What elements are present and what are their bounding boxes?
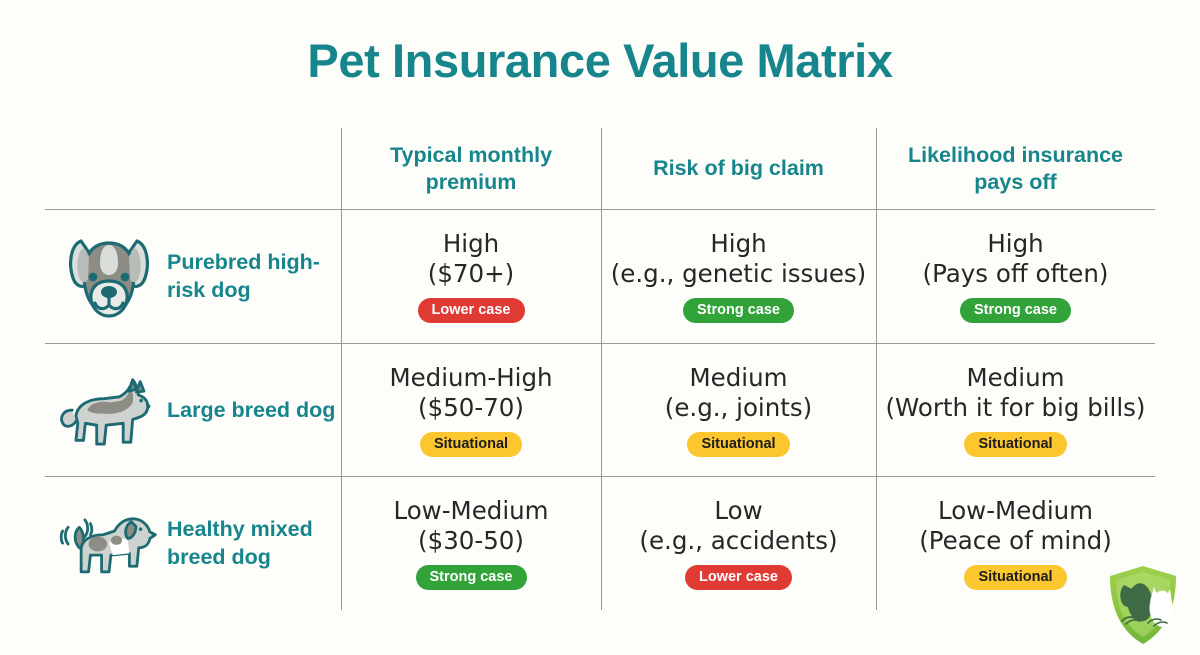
row-label-cell-purebred: Purebred high-risk dog: [45, 210, 341, 343]
matrix-grid: Typical monthly premium Risk of big clai…: [45, 128, 1155, 610]
cell-value-main: High: [710, 230, 766, 259]
cell-large-breed-risk: Medium (e.g., joints) Situational: [601, 344, 876, 477]
shepherd-dog-icon: [57, 361, 161, 461]
status-badge: Strong case: [416, 565, 527, 591]
wagging-mixed-breed-dog-icon: [57, 494, 161, 594]
cell-value-main: Low: [714, 497, 762, 526]
page-title: Pet Insurance Value Matrix: [0, 33, 1200, 88]
cell-value-sub: (Pays off often): [923, 260, 1109, 289]
cell-value-main: Low-Medium: [938, 497, 1093, 526]
cell-mixed-breed-premium: Low-Medium ($30-50) Strong case: [341, 477, 601, 610]
cell-value-sub: (e.g., accidents): [639, 527, 837, 556]
row-label-purebred: Purebred high-risk dog: [161, 249, 341, 304]
cell-value-sub: (e.g., joints): [665, 394, 812, 423]
header-cell-payoff: Likelihood insurance pays off: [876, 128, 1155, 209]
cell-value-sub: (e.g., genetic issues): [611, 260, 867, 289]
cell-value-main: Low-Medium: [393, 497, 548, 526]
status-badge: Situational: [964, 432, 1066, 458]
row-label-cell-mixed-breed: Healthy mixed breed dog: [45, 477, 341, 610]
status-badge: Strong case: [960, 298, 1071, 324]
bulldog-face-icon: [57, 227, 161, 327]
status-badge: Strong case: [683, 298, 794, 324]
pet-insurance-shield-logo: [1104, 563, 1182, 647]
cell-large-breed-premium: Medium-High ($50-70) Situational: [341, 344, 601, 477]
table-row: Healthy mixed breed dog Low-Medium ($30-…: [45, 477, 1155, 610]
table-row: Purebred high-risk dog High ($70+) Lower…: [45, 210, 1155, 343]
cell-value-main: Medium-High: [389, 364, 552, 393]
row-label-cell-large-breed: Large breed dog: [45, 344, 341, 477]
status-badge: Situational: [964, 565, 1066, 591]
status-badge: Situational: [687, 432, 789, 458]
cell-purebred-payoff: High (Pays off often) Strong case: [876, 210, 1155, 343]
row-label-large-breed: Large breed dog: [161, 397, 335, 425]
cell-value-sub: ($70+): [428, 260, 514, 289]
cell-value-main: High: [443, 230, 499, 259]
cell-large-breed-payoff: Medium (Worth it for big bills) Situatio…: [876, 344, 1155, 477]
cell-value-sub: (Peace of mind): [919, 527, 1112, 556]
cell-purebred-premium: High ($70+) Lower case: [341, 210, 601, 343]
header-row: Typical monthly premium Risk of big clai…: [45, 128, 1155, 209]
header-cell-risk: Risk of big claim: [601, 128, 876, 209]
status-badge: Lower case: [685, 565, 792, 591]
cell-purebred-risk: High (e.g., genetic issues) Strong case: [601, 210, 876, 343]
cell-value-main: High: [987, 230, 1043, 259]
cell-mixed-breed-risk: Low (e.g., accidents) Lower case: [601, 477, 876, 610]
table-row: Large breed dog Medium-High ($50-70) Sit…: [45, 344, 1155, 477]
cell-value-main: Medium: [967, 364, 1065, 393]
row-label-mixed-breed: Healthy mixed breed dog: [161, 516, 341, 571]
status-badge: Situational: [420, 432, 522, 458]
header-cell-blank: [45, 128, 341, 209]
cell-value-sub: ($50-70): [418, 394, 524, 423]
cell-value-sub: ($30-50): [418, 527, 524, 556]
cell-value-main: Medium: [690, 364, 788, 393]
status-badge: Lower case: [418, 298, 525, 324]
cell-value-sub: (Worth it for big bills): [885, 394, 1145, 423]
pet-insurance-value-matrix: Pet Insurance Value Matrix Typical month…: [0, 0, 1200, 655]
header-cell-premium: Typical monthly premium: [341, 128, 601, 209]
